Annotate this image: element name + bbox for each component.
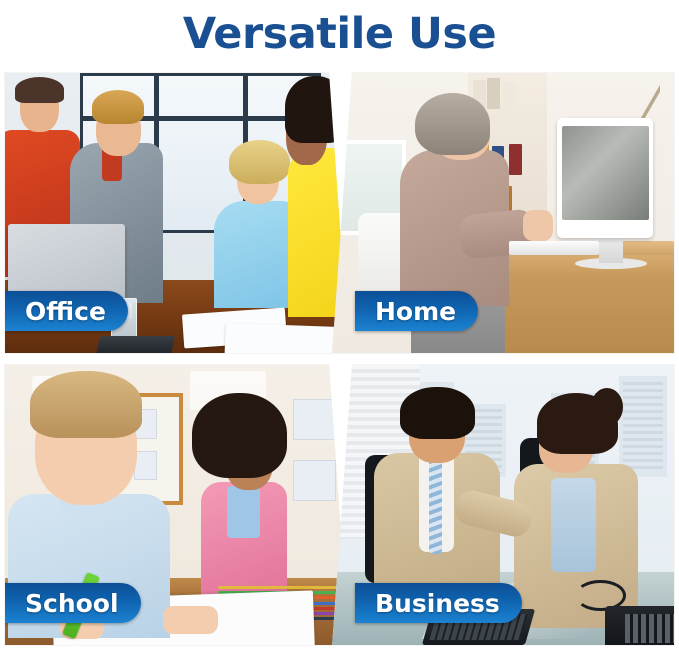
home-monitor-screen	[562, 126, 648, 220]
home-keyboard	[509, 241, 598, 255]
panel-label-school: School	[5, 583, 141, 623]
page-title: Versatile Use	[0, 0, 679, 68]
panel-home[interactable]: Home	[330, 72, 675, 354]
school-boy-hand-right	[163, 606, 218, 634]
school-child-girl	[190, 393, 293, 595]
panel-label-office: Office	[5, 291, 128, 331]
home-monitor	[557, 118, 653, 238]
panel-school[interactable]: School	[4, 364, 349, 646]
image-collage: Office	[0, 68, 679, 648]
collage-row-bottom: School	[0, 364, 679, 648]
panel-label-home: Home	[355, 291, 478, 331]
office-paper-2	[224, 323, 342, 353]
office-keyboard	[96, 336, 176, 353]
panel-office[interactable]: Office	[4, 72, 349, 354]
panel-business[interactable]: Business	[330, 364, 675, 646]
panel-label-business: Business	[355, 583, 522, 623]
collage-row-top: Office	[0, 72, 679, 356]
business-desk-phone	[605, 606, 674, 645]
